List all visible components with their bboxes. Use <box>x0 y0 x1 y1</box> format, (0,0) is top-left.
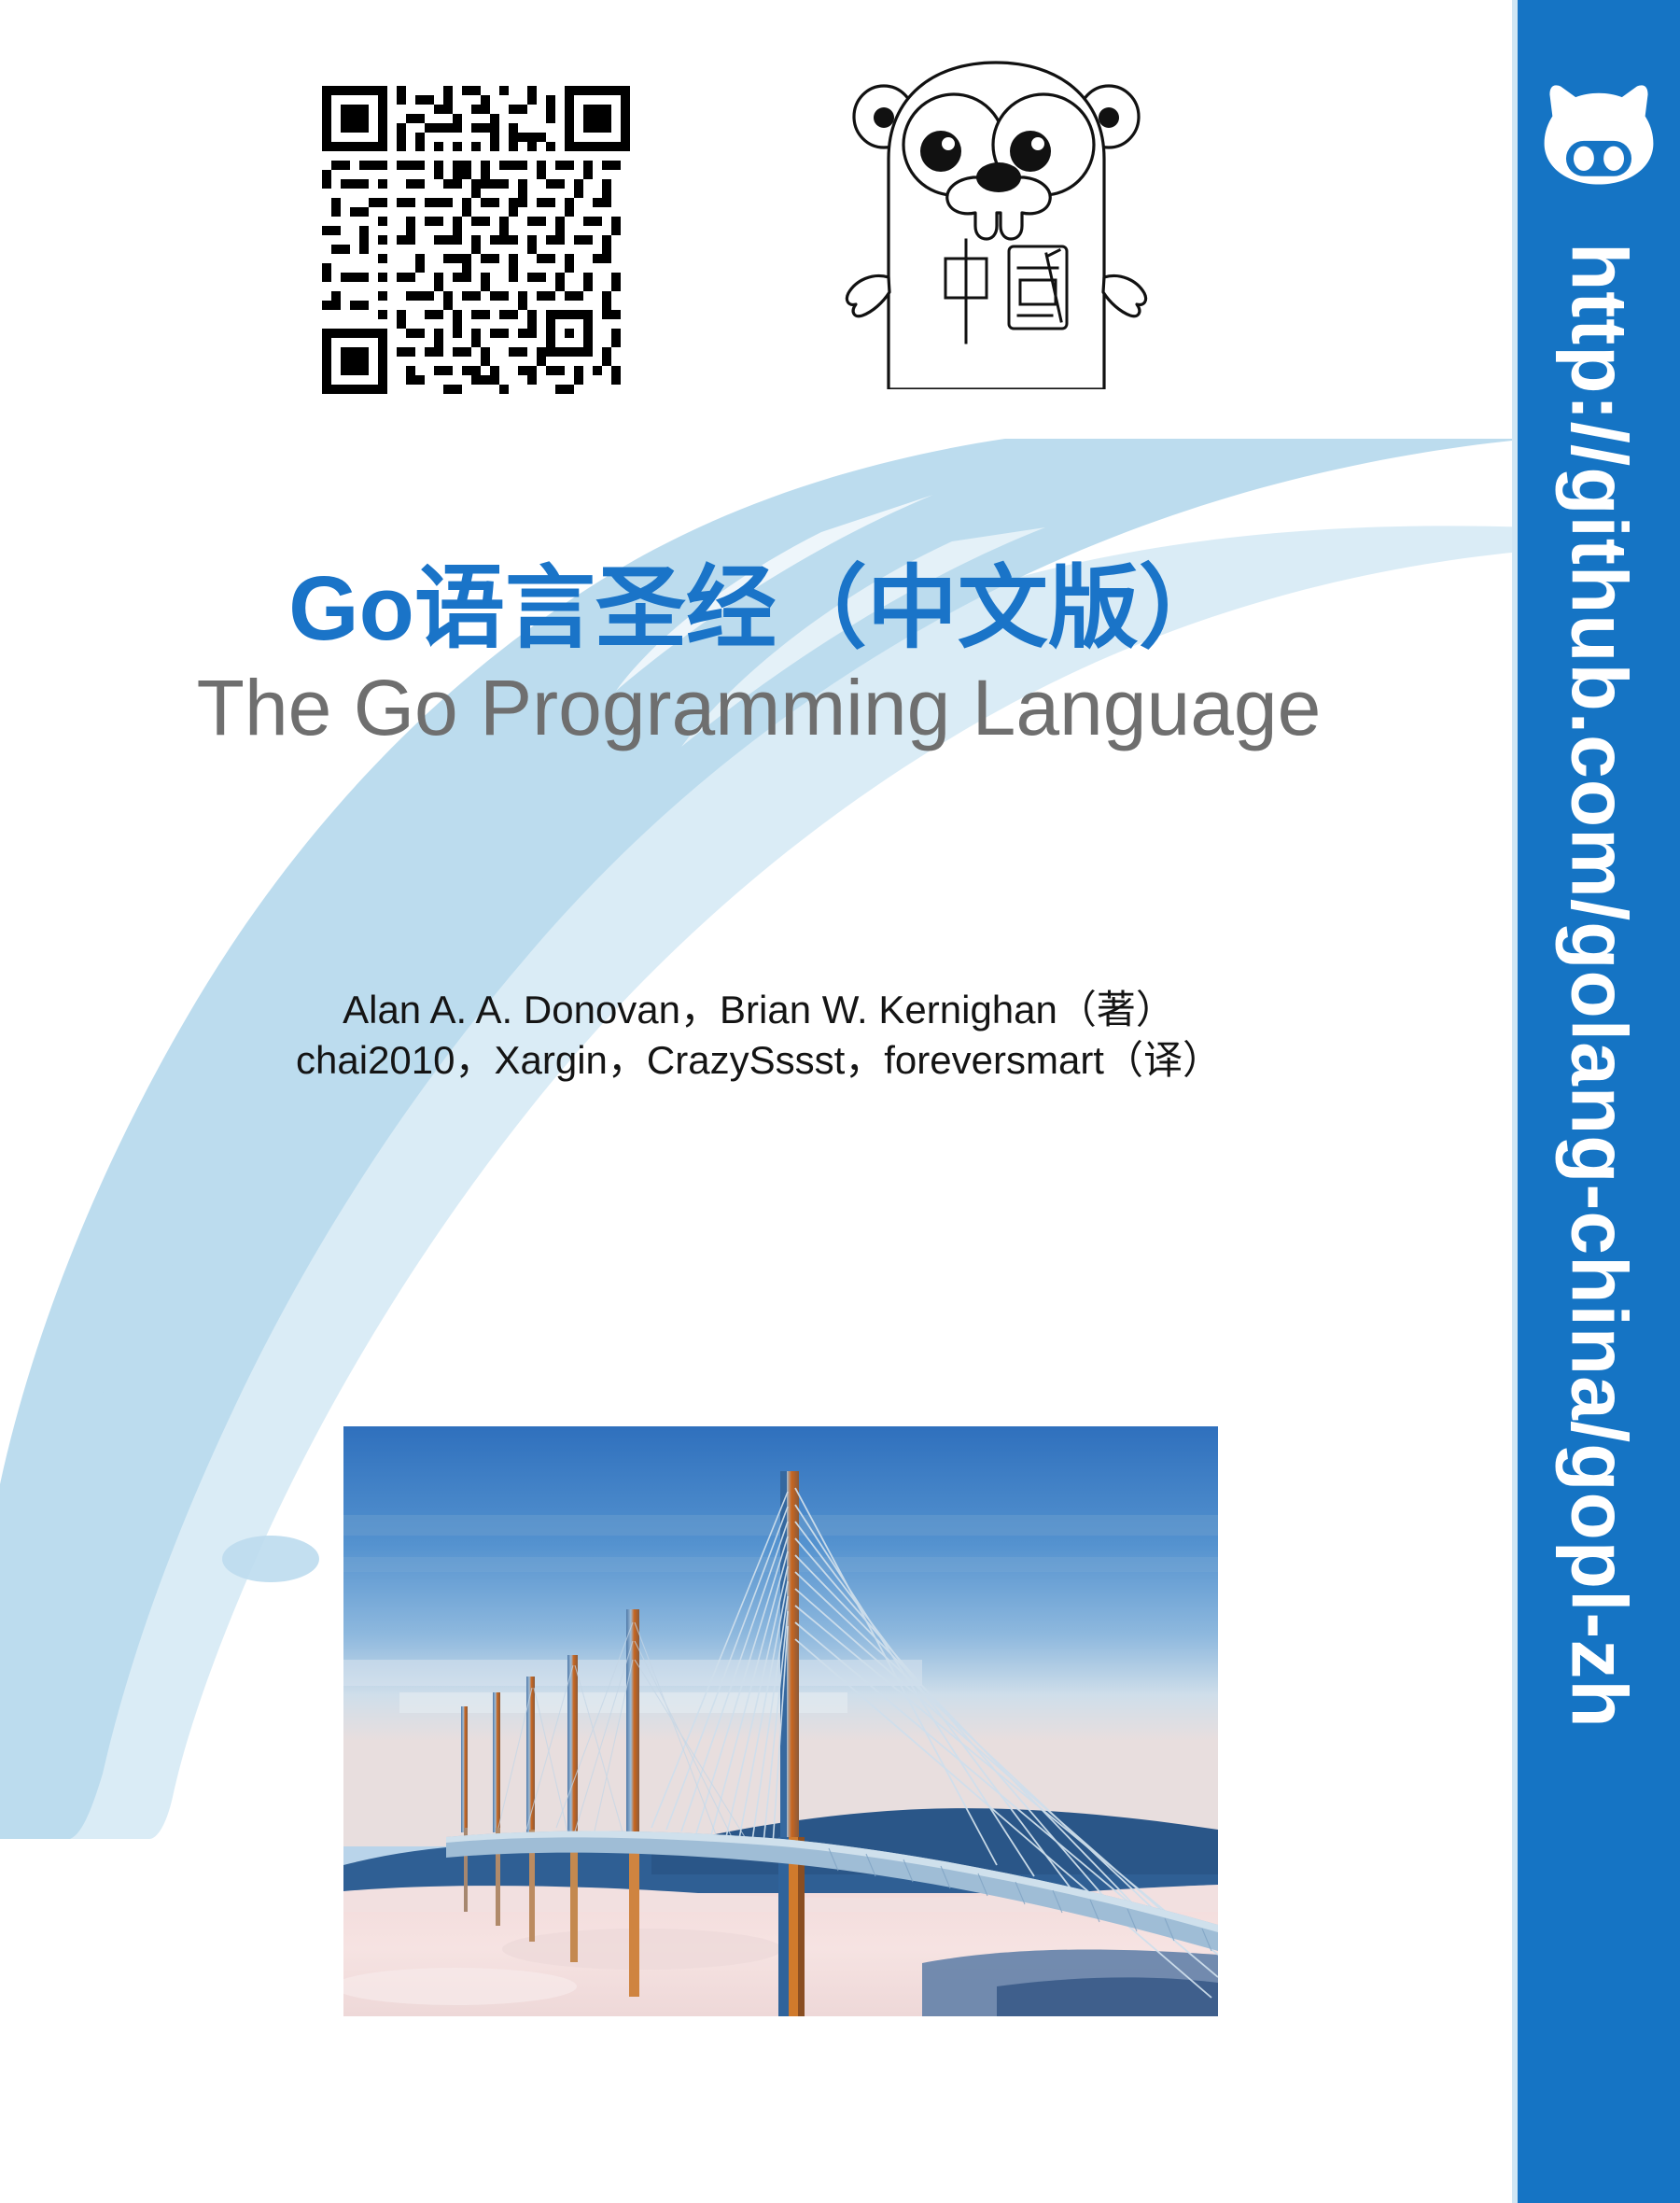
qr-code[interactable] <box>322 86 630 394</box>
title-block: Go语言圣经（中文版） The Go Programming Language <box>0 560 1518 751</box>
repo-url-text[interactable]: http://github.com/golang-china/gopl-zh <box>1554 243 1645 1729</box>
millau-viaduct-bridge-photo <box>343 1426 1218 2016</box>
book-cover: Go语言圣经（中文版） The Go Programming Language … <box>0 0 1680 2203</box>
authors-line: Alan A. A. Donovan，Brian W. Kernighan（著） <box>0 985 1518 1035</box>
page-title: Go语言圣经（中文版） <box>0 560 1518 658</box>
translators-line: chai2010，Xargin，CrazySssst，foreversmart（… <box>0 1035 1518 1086</box>
go-gopher-mascot-icon <box>835 39 1157 389</box>
page-subtitle: The Go Programming Language <box>0 664 1518 751</box>
repo-url-block[interactable]: http://github.com/golang-china/gopl-zh <box>1518 0 1680 2203</box>
authors-block: Alan A. A. Donovan，Brian W. Kernighan（著）… <box>0 985 1518 1086</box>
qr-code-icon[interactable] <box>322 86 630 394</box>
